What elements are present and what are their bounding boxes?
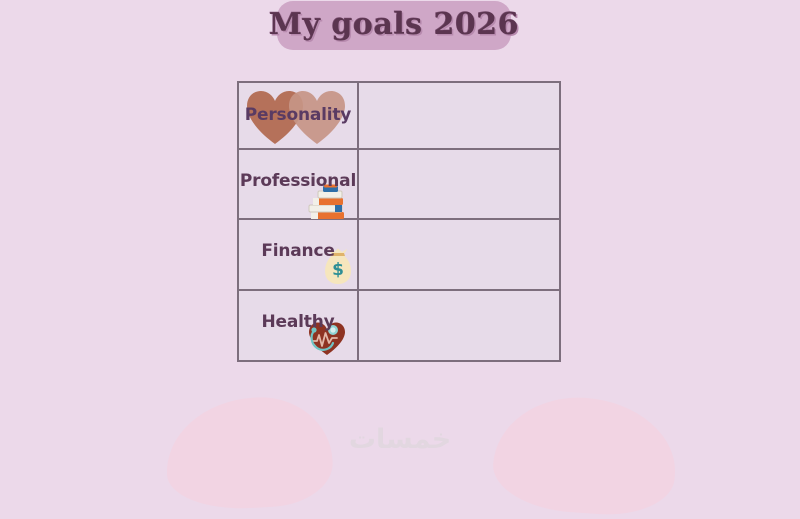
table-row: Professional [238,149,560,219]
goal-category-cell-finance[interactable]: Finance $ [238,219,358,290]
watermark-text: خمسات [0,424,800,455]
goal-notes-cell-personality[interactable] [358,82,560,149]
bottom-right-blob [490,392,680,519]
goal-category-cell-personality[interactable]: Personality [238,82,358,149]
goal-label-healthy: Healthy [239,312,357,332]
goal-label-professional: Professional [239,171,357,191]
goal-notes-cell-professional[interactable] [358,149,560,219]
table-row: Finance $ [238,219,560,290]
page-title: My goals 2026 [269,10,519,42]
goal-label-finance: Finance [239,241,357,261]
table-row: Healthy [238,290,560,361]
goal-category-cell-healthy[interactable]: Healthy [238,290,358,361]
goals-table: Personality Professional [237,81,561,362]
goal-notes-cell-healthy[interactable] [358,290,560,361]
goal-notes-cell-finance[interactable] [358,219,560,290]
table-row: Personality [238,82,560,149]
page-title-banner: My goals 2026 [277,1,511,50]
goal-category-cell-professional[interactable]: Professional [238,149,358,219]
svg-text:$: $ [332,260,344,280]
goal-label-personality: Personality [239,105,357,125]
